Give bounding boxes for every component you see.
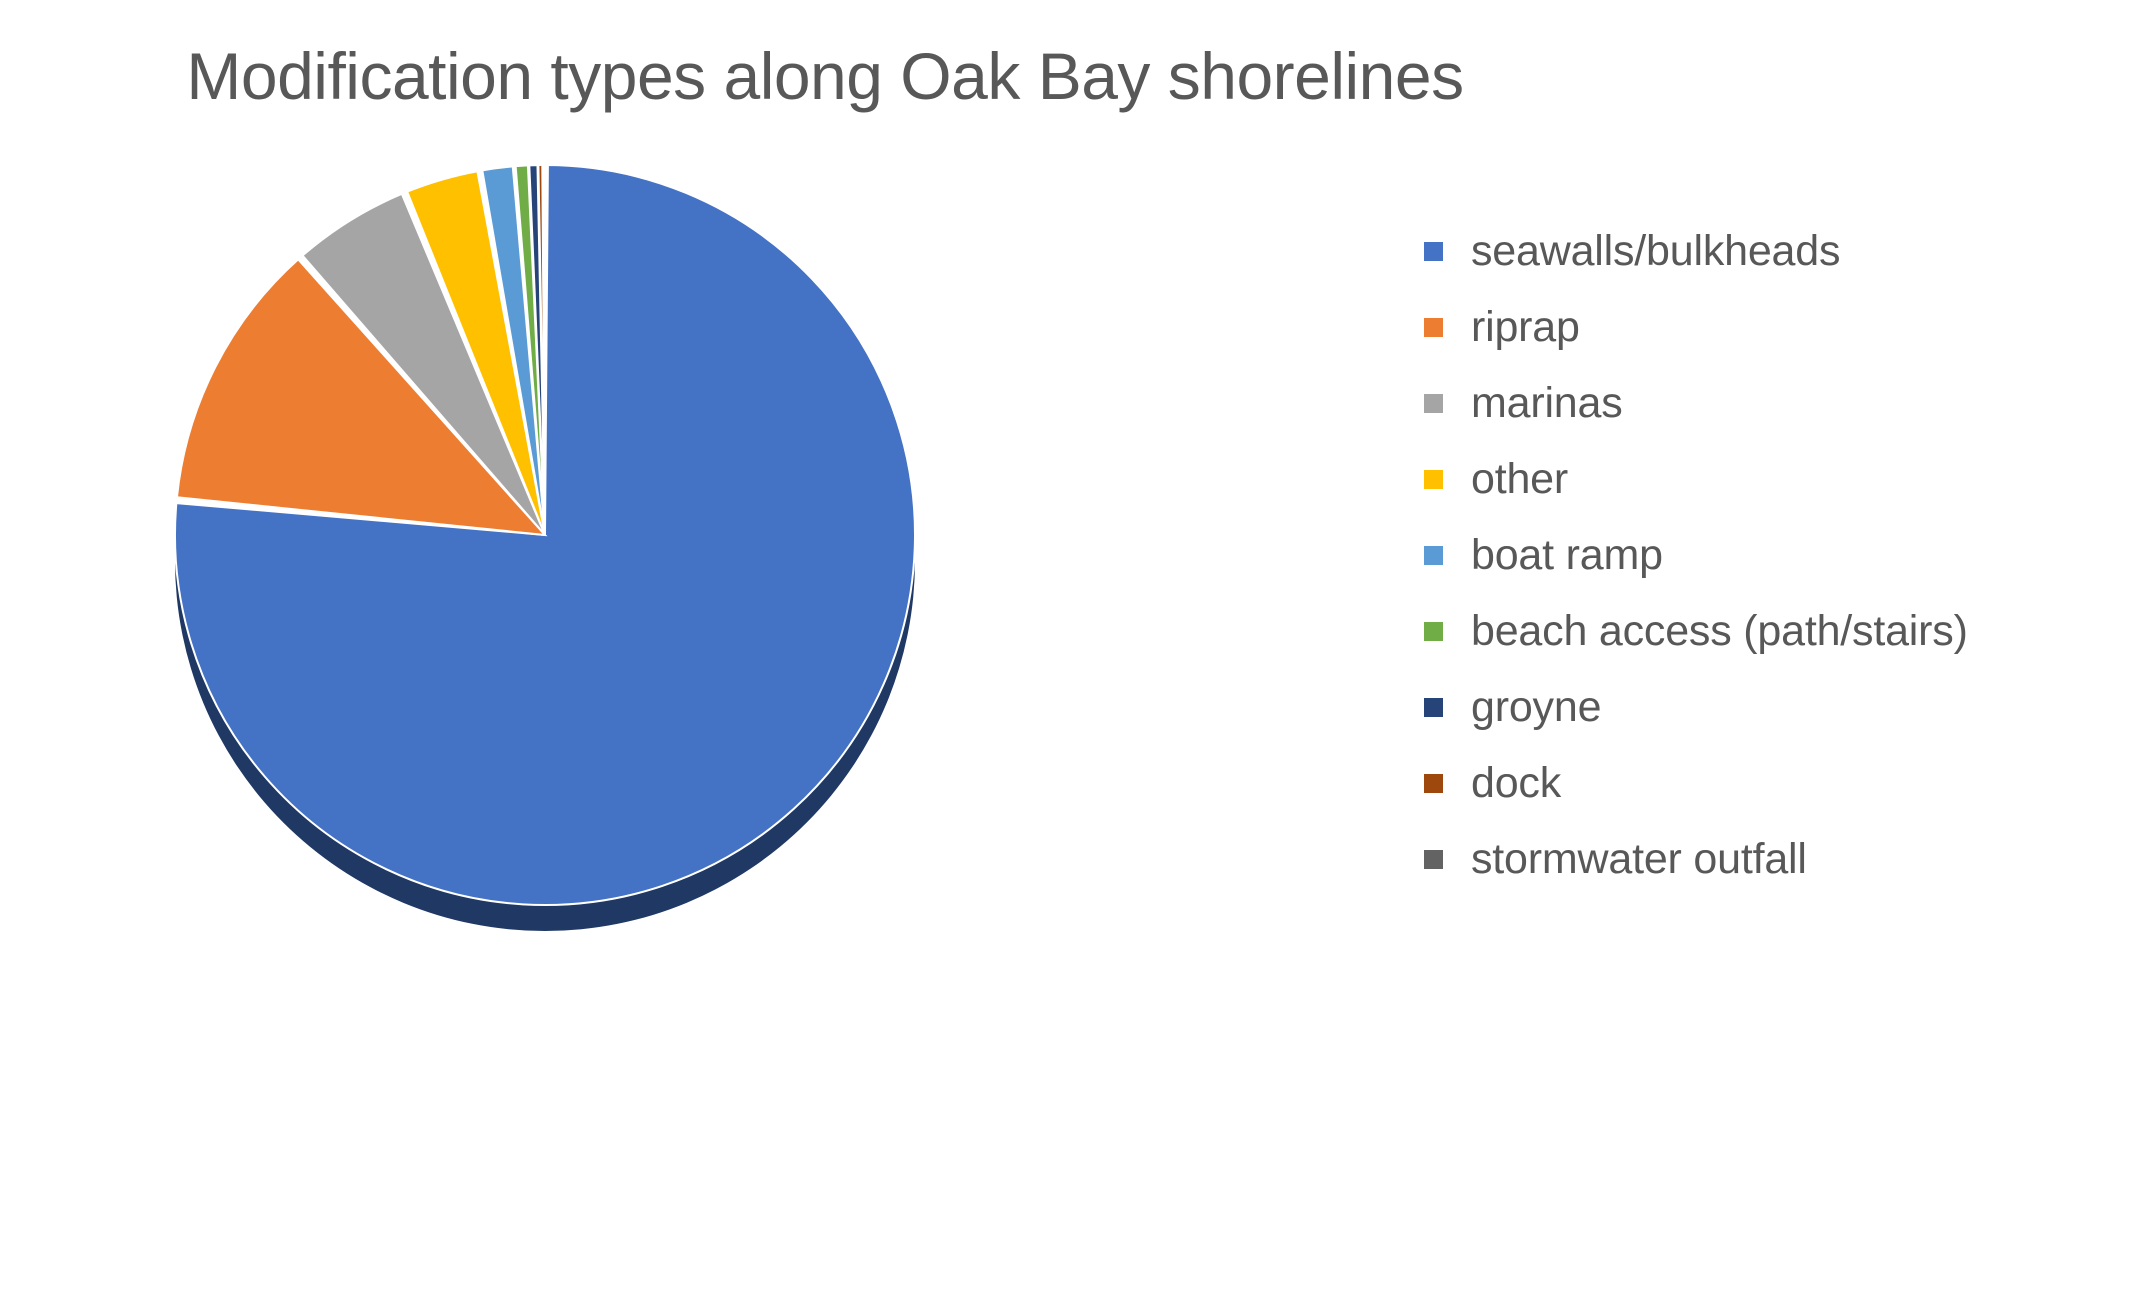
legend-item[interactable]: riprap <box>1424 289 2114 365</box>
legend-swatch-icon <box>1424 242 1443 261</box>
pie-svg: seawalls/bulkheadsriprapmarinasotherboat… <box>110 130 1010 960</box>
legend-item-label: dock <box>1471 762 1561 805</box>
legend-swatch-icon <box>1424 622 1443 641</box>
legend-item-label: beach access (path/stairs) <box>1471 610 1968 653</box>
legend-swatch-icon <box>1424 394 1443 413</box>
legend-item[interactable]: marinas <box>1424 365 2114 441</box>
legend-swatch-icon <box>1424 850 1443 869</box>
legend-item[interactable]: beach access (path/stairs) <box>1424 593 2114 669</box>
legend-item[interactable]: other <box>1424 441 2114 517</box>
legend-item-label: seawalls/bulkheads <box>1471 230 1840 273</box>
pie-plot-area: seawalls/bulkheadsriprapmarinasotherboat… <box>110 130 1010 960</box>
legend-item-label: groyne <box>1471 686 1601 729</box>
legend-swatch-icon <box>1424 470 1443 489</box>
legend-item-label: stormwater outfall <box>1471 838 1807 881</box>
legend-item[interactable]: seawalls/bulkheads <box>1424 213 2114 289</box>
pie-slices: seawalls/bulkheadsriprapmarinasotherboat… <box>175 165 915 905</box>
legend-item-label: riprap <box>1471 306 1580 349</box>
legend-swatch-icon <box>1424 546 1443 565</box>
legend-swatch-icon <box>1424 698 1443 717</box>
legend-item[interactable]: groyne <box>1424 669 2114 745</box>
legend-swatch-icon <box>1424 774 1443 793</box>
legend-item[interactable]: dock <box>1424 745 2114 821</box>
pie-chart-figure: Modification types along Oak Bay shoreli… <box>0 0 2130 1314</box>
legend-swatch-icon <box>1424 318 1443 337</box>
chart-legend: seawalls/bulkheadsriprapmarinasotherboat… <box>1424 213 2114 897</box>
legend-item[interactable]: stormwater outfall <box>1424 821 2114 897</box>
chart-title: Modification types along Oak Bay shoreli… <box>0 42 1650 111</box>
legend-item[interactable]: boat ramp <box>1424 517 2114 593</box>
legend-item-label: boat ramp <box>1471 534 1663 577</box>
legend-item-label: marinas <box>1471 382 1623 425</box>
legend-item-label: other <box>1471 458 1568 501</box>
